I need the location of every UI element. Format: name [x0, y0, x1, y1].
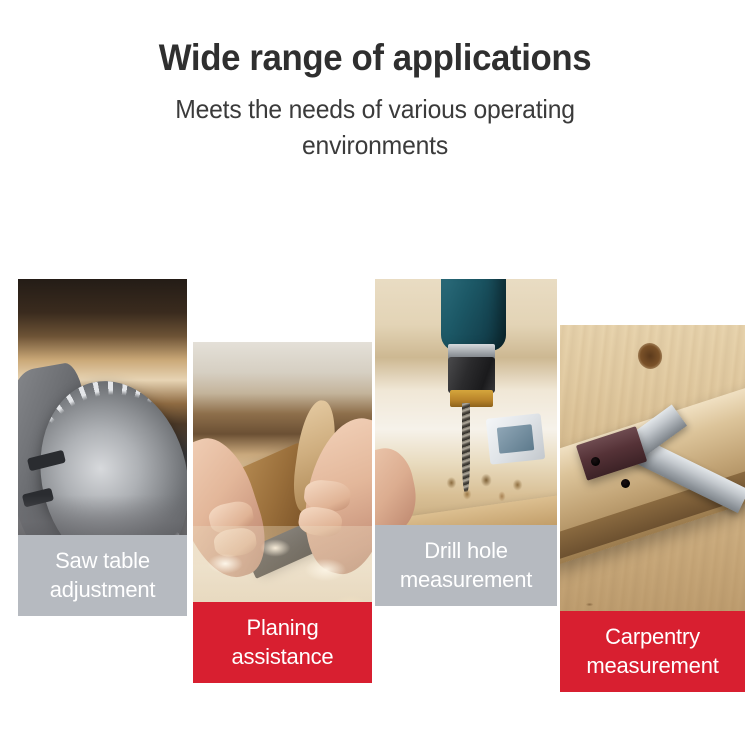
drill-chuck-icon	[448, 357, 495, 393]
measuring-device-icon	[486, 414, 545, 465]
panel-caption-drill: Drill hole measurement	[375, 525, 557, 606]
panel-caption-planing: Planing assistance	[193, 602, 372, 683]
panel-planing-assistance[interactable]: Planing assistance	[193, 342, 372, 683]
panel-drill-hole-measurement[interactable]: Drill hole measurement	[375, 279, 557, 606]
panel-carpentry-measurement[interactable]: Carpentry measurement	[560, 325, 745, 692]
power-drill-body-icon	[441, 279, 507, 351]
panel-saw-table-adjustment[interactable]: Saw table adjustment	[18, 279, 187, 616]
caption-line-1: Carpentry	[562, 622, 743, 651]
caption-line-2: adjustment	[20, 575, 185, 604]
caption-line-2: measurement	[562, 651, 743, 680]
panel-caption-saw: Saw table adjustment	[18, 535, 187, 616]
panel-caption-carpentry: Carpentry measurement	[560, 611, 745, 692]
wood-dust	[441, 462, 528, 514]
caption-line-2: assistance	[195, 642, 370, 671]
drill-brass-ring-icon	[450, 390, 494, 406]
caption-line-1: Saw table	[20, 546, 185, 575]
caption-line-1: Planing	[195, 613, 370, 642]
application-panels: Saw table adjustment Planing assistance	[0, 0, 750, 750]
caption-line-1: Drill hole	[377, 536, 555, 565]
caption-line-2: measurement	[377, 565, 555, 594]
